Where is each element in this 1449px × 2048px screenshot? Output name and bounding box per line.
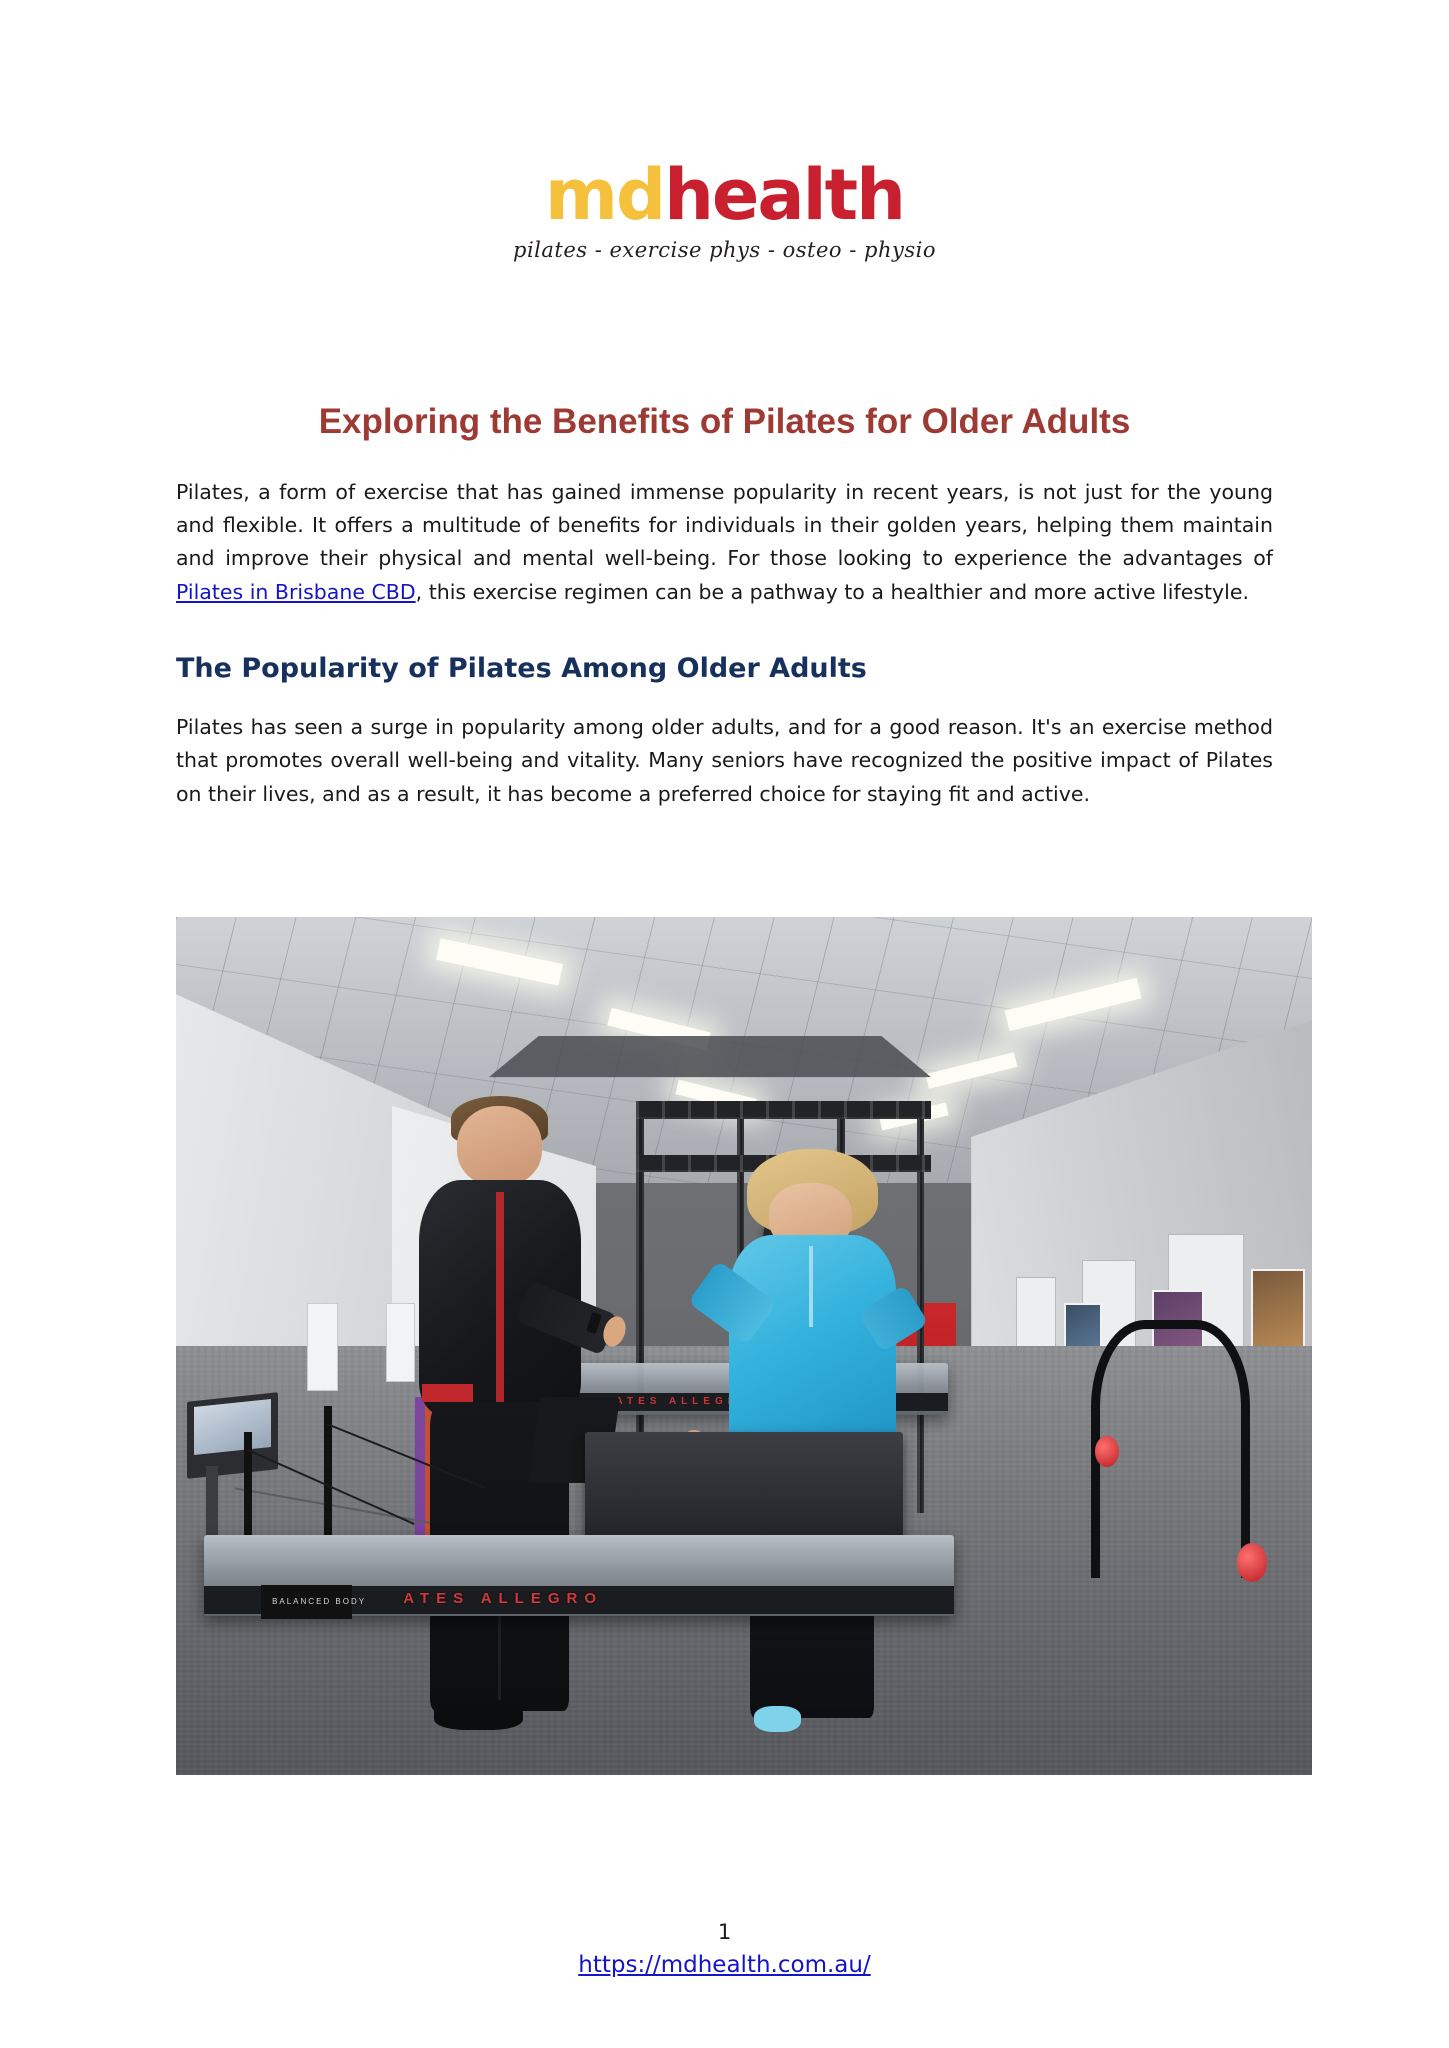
logo-wordmark: mdhealth: [0, 160, 1449, 230]
client-sock: [754, 1706, 801, 1732]
client-jacket-zip: [809, 1246, 814, 1326]
page-number: 1: [0, 1917, 1449, 1949]
pilates-brisbane-cbd-link[interactable]: Pilates in Brisbane CBD: [176, 580, 416, 604]
logo-health-text: health: [664, 154, 904, 236]
rack-beam: [636, 1101, 931, 1118]
reformer-foreground-label: ATES ALLEGRO: [403, 1590, 603, 1607]
reformer-brand-badge: BALANCED BODY: [261, 1585, 352, 1619]
reformer-knob: [1237, 1543, 1267, 1582]
section-heading-popularity: The Popularity of Pilates Among Older Ad…: [176, 653, 1273, 685]
page-title: Exploring the Benefits of Pilates for Ol…: [176, 401, 1273, 443]
laptop-screen: [195, 1400, 271, 1456]
pilates-studio-photo: PILATES ALLEGRO: [176, 917, 1312, 1775]
logo-md-text: md: [545, 154, 664, 236]
paragraph-intro-part1: Pilates, a form of exercise that has gai…: [176, 480, 1273, 570]
instructor-shoe: [434, 1699, 523, 1730]
rack-holes: [636, 1101, 931, 1118]
document-body: Pilates, a form of exercise that has gai…: [176, 476, 1273, 811]
reformer-carriage: [585, 1432, 903, 1552]
page-footer: 1 https://mdhealth.com.au/: [0, 1917, 1449, 1979]
paragraph-intro-part2: , this exercise regimen can be a pathway…: [416, 580, 1249, 604]
instructor-sleeve-cuff: [422, 1384, 472, 1403]
paragraph-intro: Pilates, a form of exercise that has gai…: [176, 476, 1273, 609]
brand-logo: mdhealth pilates - exercise phys - osteo…: [0, 160, 1449, 262]
wall-poster: [307, 1303, 339, 1391]
photo-scene: PILATES ALLEGRO: [176, 917, 1312, 1775]
instructor-shirt-stripe: [496, 1192, 504, 1414]
footer-website-link[interactable]: https://mdhealth.com.au/: [578, 1952, 870, 1978]
logo-tagline: pilates - exercise phys - osteo - physio: [0, 238, 1449, 262]
paragraph-popularity: Pilates has seen a surge in popularity a…: [176, 711, 1273, 811]
instructor-head: [457, 1106, 542, 1186]
reformer-brand-text: BALANCED BODY: [272, 1597, 366, 1606]
document-page: mdhealth pilates - exercise phys - osteo…: [0, 0, 1449, 2048]
laptop: [187, 1393, 278, 1480]
reformer-knob: [1095, 1436, 1119, 1467]
